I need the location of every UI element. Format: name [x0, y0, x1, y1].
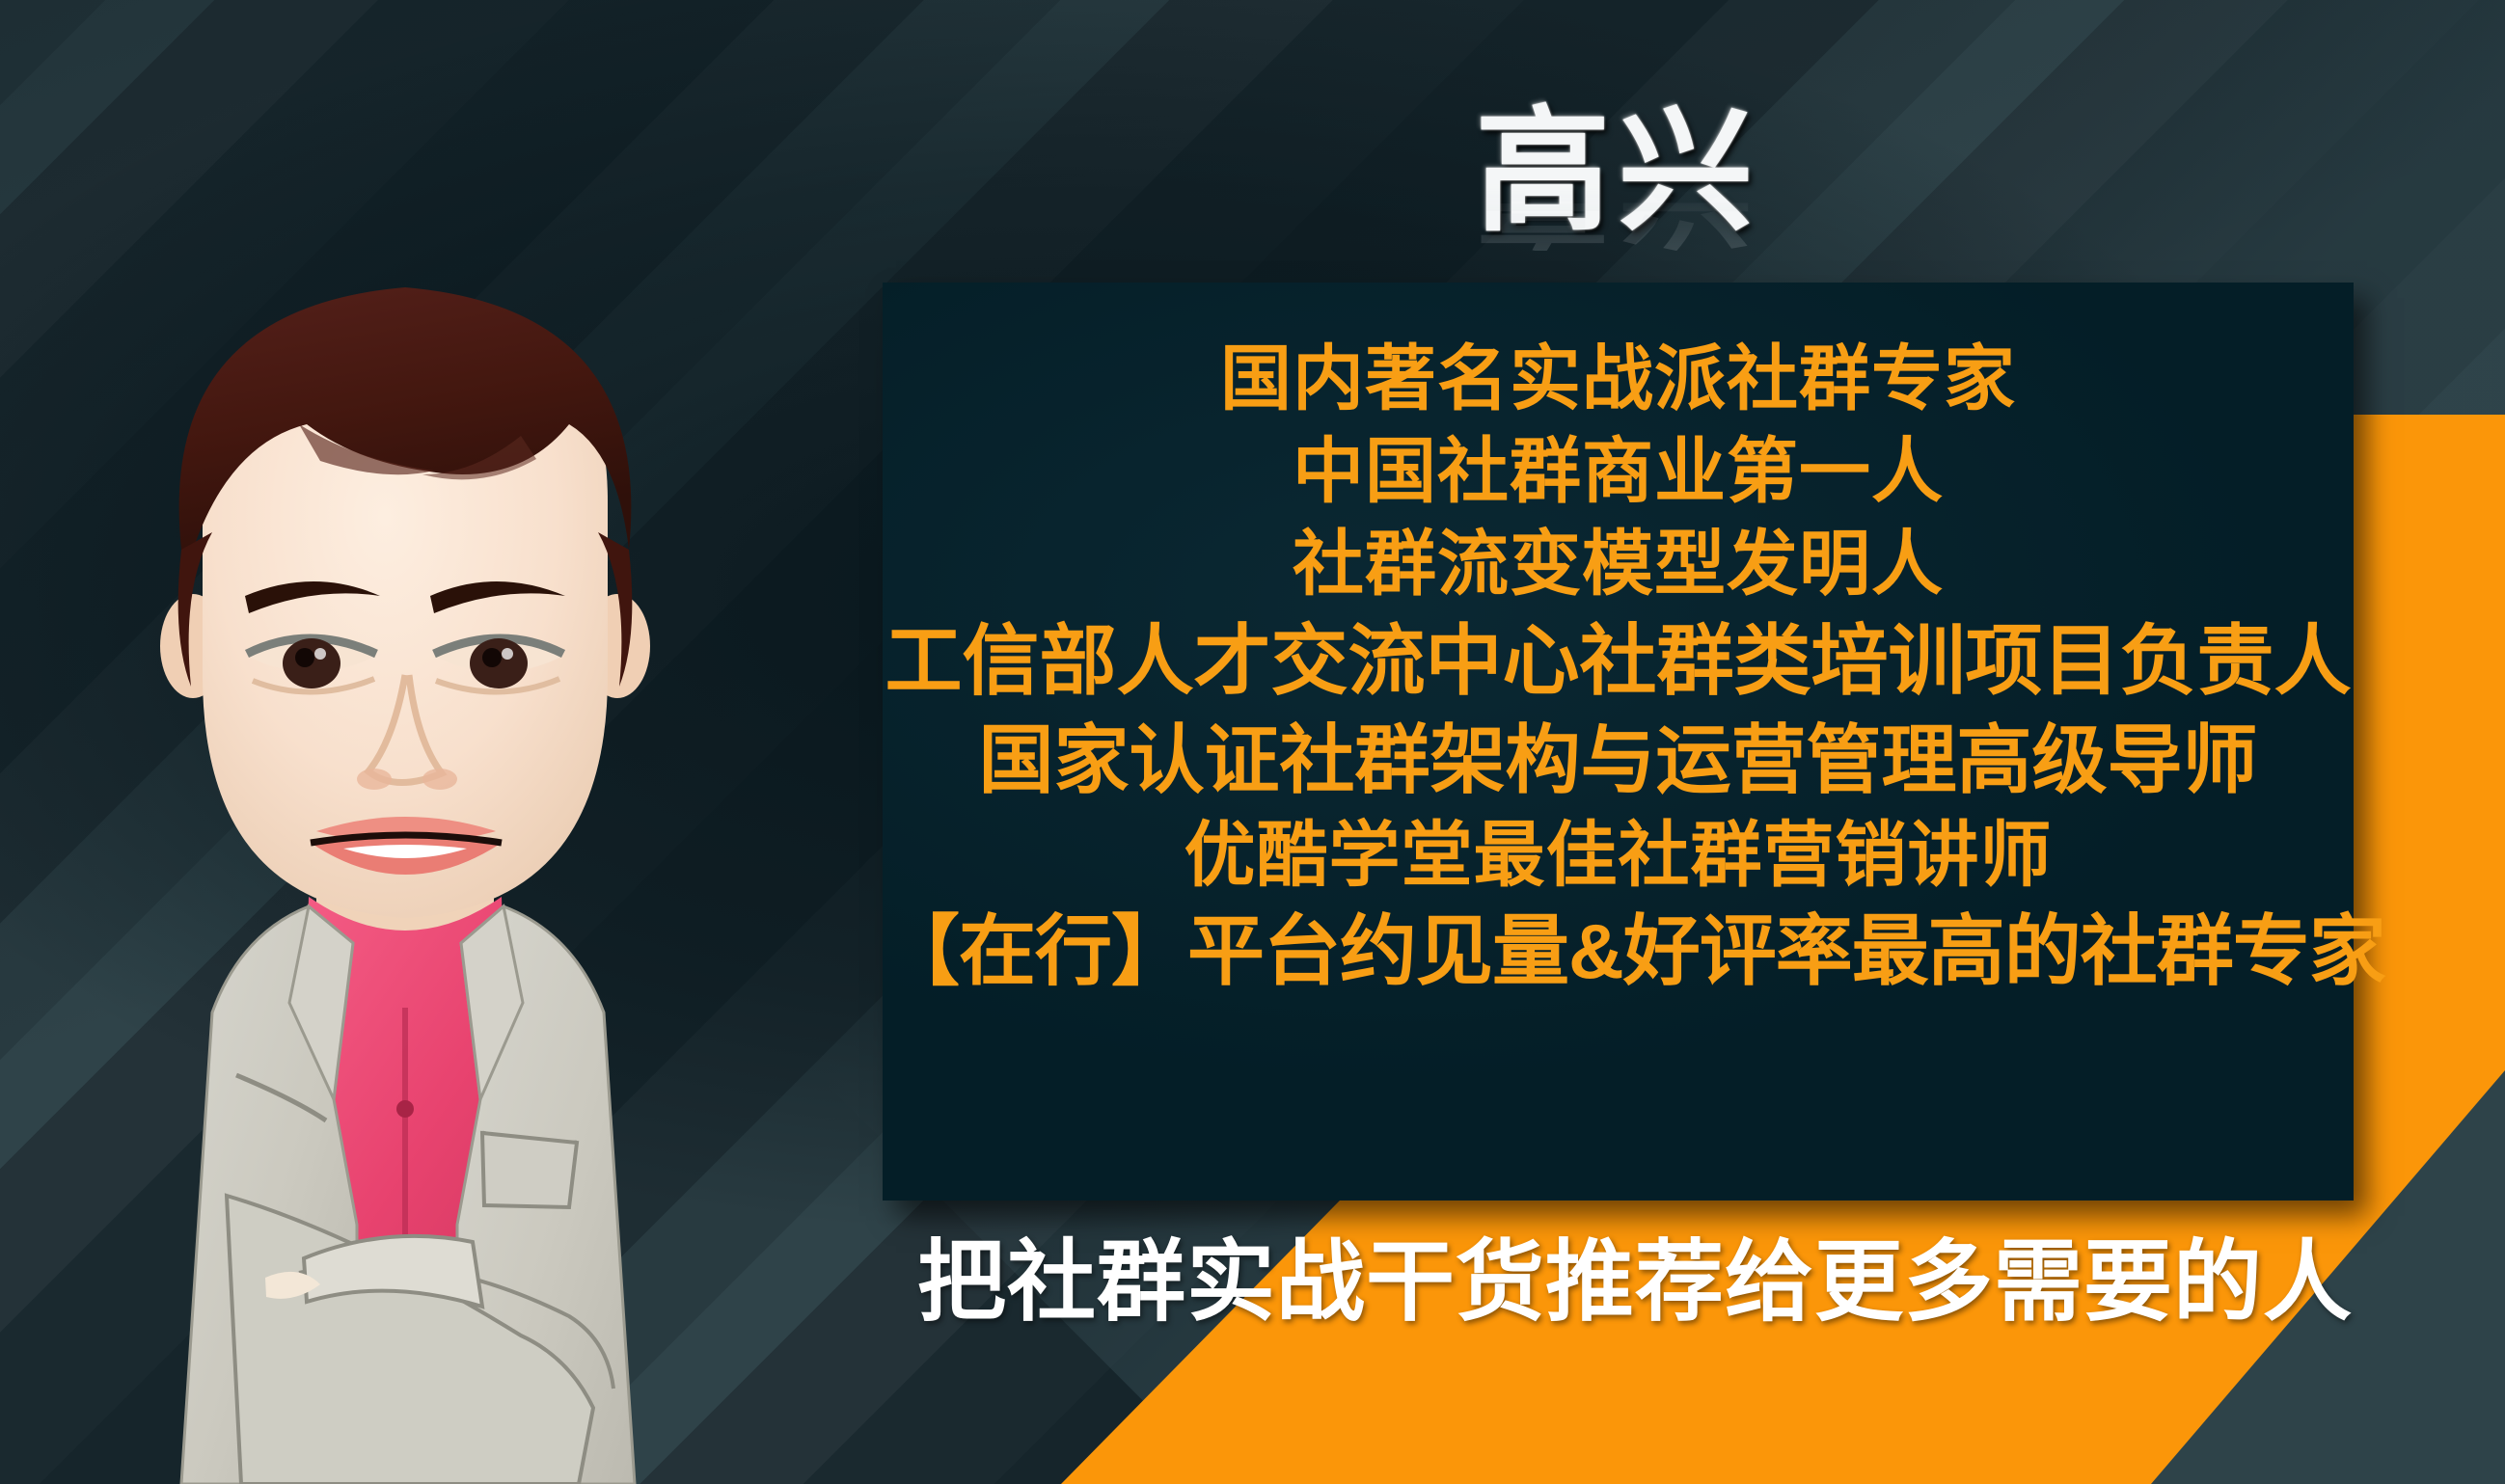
avatar-jacket — [181, 889, 635, 1484]
credential-line-4: 工信部人才交流中心社群类培训项目负责人 — [883, 611, 2354, 712]
credential-line-2: 中国社群商业第一人 — [883, 425, 2354, 518]
title-block: 高兴 高兴 — [883, 104, 2354, 297]
credentials-list: 国内著名实战派社群专家 中国社群商业第一人 社群流变模型发明人 工信部人才交流中… — [883, 333, 2354, 1002]
credential-line-7: 【在行】平台约见量&好评率最高的社群专家 — [883, 902, 2354, 1002]
credential-line-3: 社群流变模型发明人 — [883, 518, 2354, 610]
credential-line-6: 优酷学堂最佳社群营销讲师 — [883, 809, 2354, 902]
credential-line-5: 国家认证社群架构与运营管理高级导师 — [883, 712, 2354, 809]
tagline: 把社群实战干货推荐给更多需要的人 — [883, 1210, 2387, 1338]
page-title: 高兴 — [883, 104, 2354, 239]
credential-line-1: 国内著名实战派社群专家 — [883, 333, 2354, 425]
slide-canvas: 高兴 高兴 国内著名实战派社群专家 中国社群商业第一人 社群流变模型发明人 工信… — [0, 0, 2505, 1484]
avatar-illustration — [68, 135, 743, 1484]
avatar-head — [160, 287, 650, 918]
